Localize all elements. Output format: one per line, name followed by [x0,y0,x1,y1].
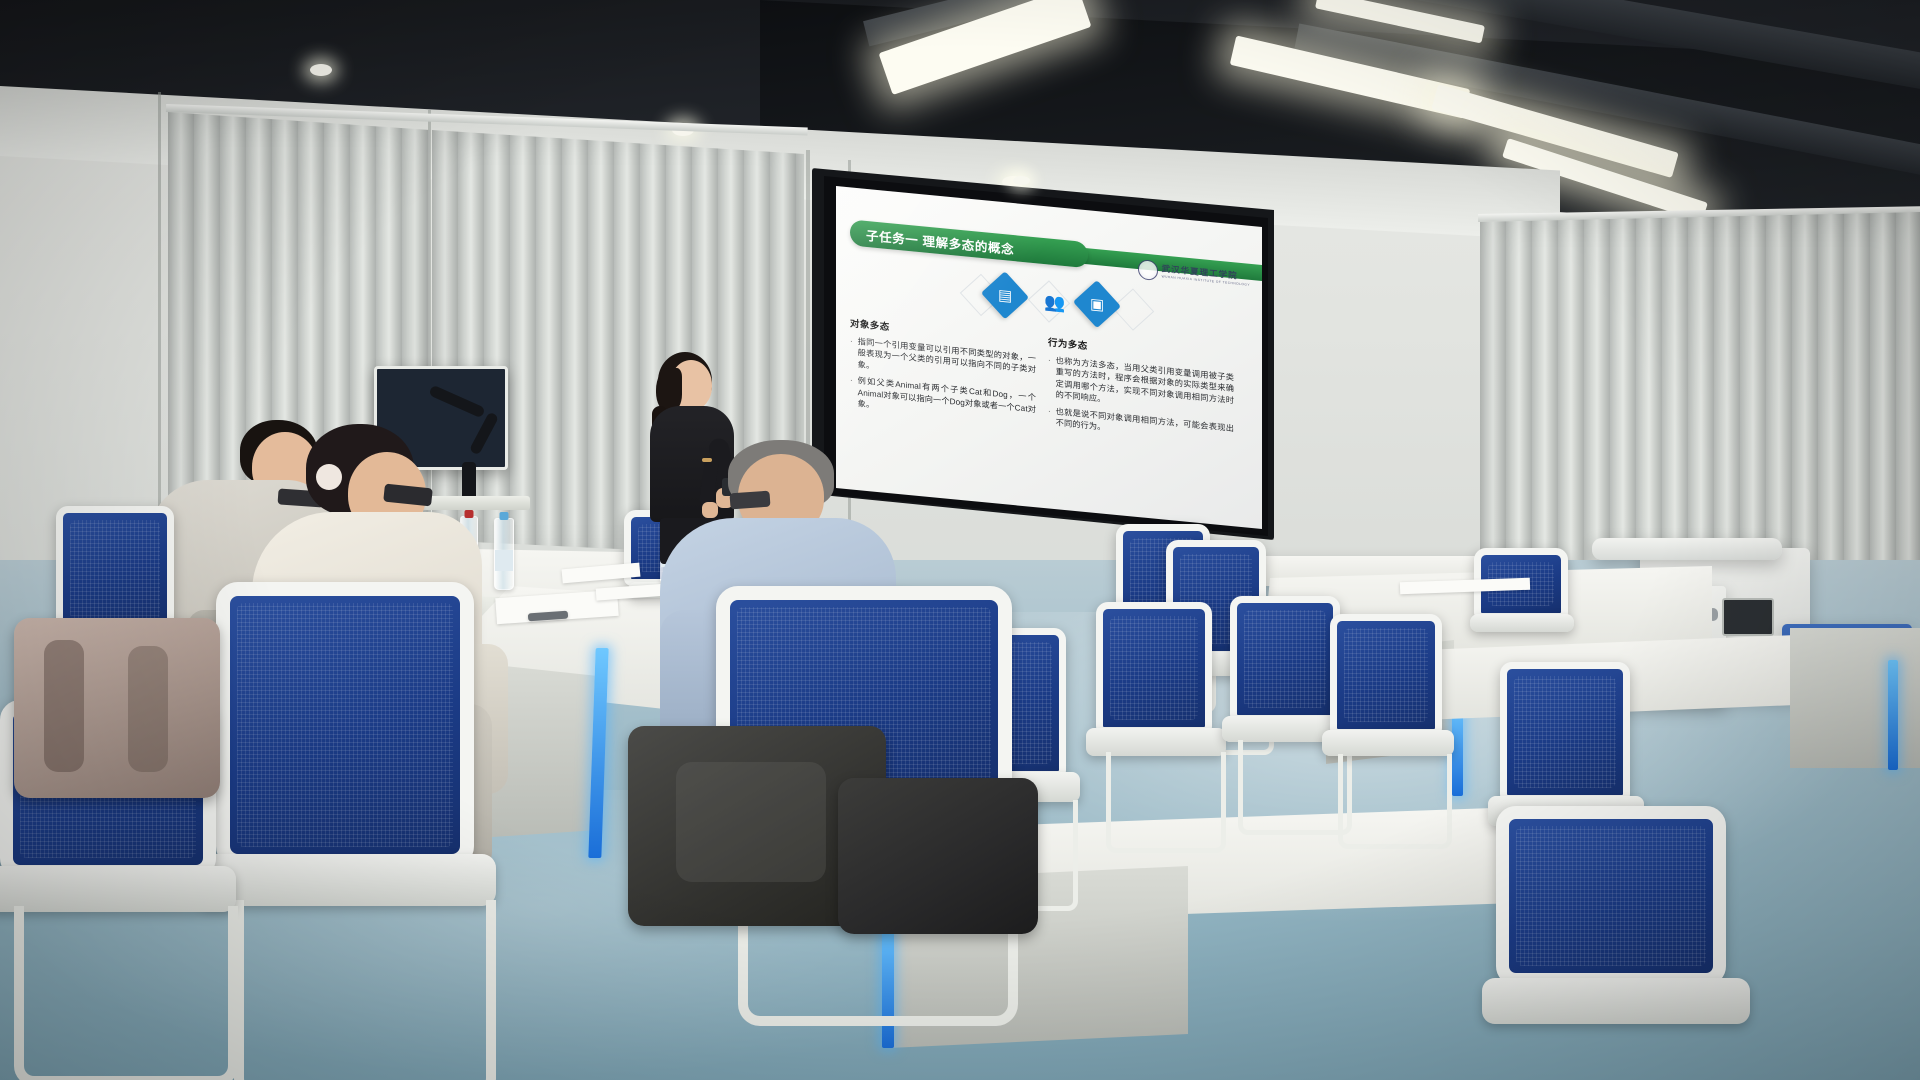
bullet-marker: · [850,335,853,369]
book-diamond-icon: ▣ [1073,280,1121,328]
slide-content: 子任务一 理解多态的概念 武汉华夏理工学院 WUHAN HUAXIA INSTI… [836,186,1262,529]
backpack-strap [128,646,168,772]
hair-accessory [316,464,342,490]
slide-title: 子任务一 理解多态的概念 [866,224,1014,257]
backpack-dark[interactable] [838,778,1038,934]
equipment-top-rail [1592,538,1782,560]
people-icon: 👥 [1044,292,1066,314]
university-seal-icon [1138,259,1158,281]
hand [702,502,718,518]
document-diamond-icon: ▤ [981,271,1029,319]
bracelet [702,458,712,462]
classroom-scene: 子任务一 理解多态的概念 武汉华夏理工学院 WUHAN HUAXIA INSTI… [0,0,1920,1080]
desk-led-strip [1888,660,1898,770]
keyboard[interactable] [418,496,530,510]
slide-icon-row: ▤ 👥 ▣ [982,268,1142,337]
eyeglasses [729,491,770,510]
slide-column-object-polymorphism: 对象多态 · 指同一个引用变量可以引用不同类型的对象，一般表现为一个父类的引用可… [850,315,1036,431]
slide-title-banner: 子任务一 理解多态的概念 [850,219,1088,268]
equipment-display [1722,598,1774,636]
desk-side-panel [1790,628,1920,768]
water-bottle[interactable] [494,518,514,590]
monitor-arm-post [462,462,476,500]
bullet-marker: · [1048,354,1051,400]
recessed-downlight [310,64,332,76]
bullet-marker: · [1048,405,1051,428]
slide-column-behavior-polymorphism: 行为多态 · 也称为方法多态，当用父类引用变量调用被子类重写的方法时，程序会根据… [1048,334,1234,450]
recessed-downlight [1013,176,1030,185]
backpack-panel [676,762,826,882]
bullet-marker: · [850,375,853,409]
ghost-diamond [1112,288,1154,330]
backpack-strap [44,640,84,772]
